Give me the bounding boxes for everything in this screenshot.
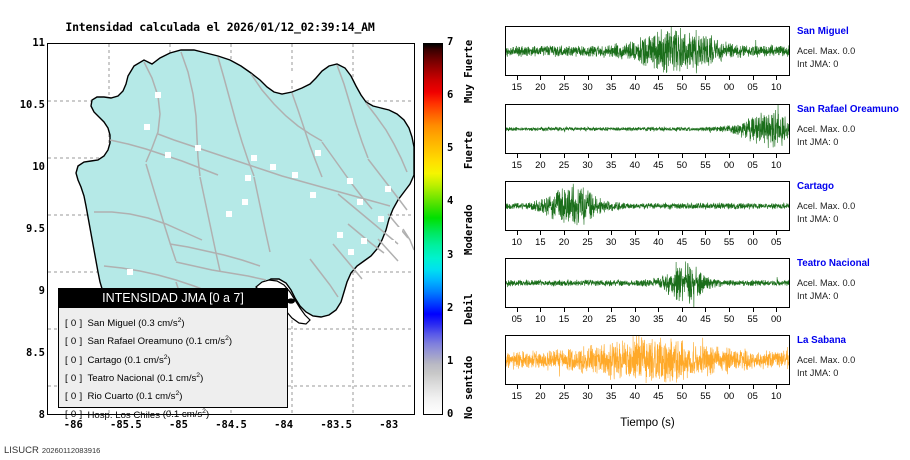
seismograph-info: San Rafael OreamunoAcel. Max. 0.0Int JMA…	[797, 104, 910, 147]
axis-tick-mark	[540, 154, 541, 158]
axis-tick-label: 55	[693, 390, 717, 401]
axis-tick-label: 45	[670, 236, 694, 247]
axis-tick-mark	[776, 385, 777, 389]
axis-tick-label: 00	[717, 81, 741, 92]
legend-accel-value: (0.1 cm/s	[133, 391, 175, 402]
axis-tick-mark	[658, 308, 659, 312]
axis-tick-mark	[658, 154, 659, 158]
axis-tick-mark	[682, 231, 683, 235]
axis-tick-mark	[611, 154, 612, 158]
map-y-tick: 11	[3, 37, 45, 49]
colorbar-gradient	[423, 43, 443, 415]
axis-tick-label: 30	[576, 390, 600, 401]
colorbar-tick: 0	[447, 408, 453, 420]
axis-tick-mark	[588, 154, 589, 158]
legend-intensity-value: [ 0 ]	[65, 410, 83, 421]
axis-tick-mark	[682, 385, 683, 389]
legend-title: INTENSIDAD JMA [0 a 7]	[59, 289, 287, 308]
seismograph-info: San MiguelAcel. Max. 0.0Int JMA: 0	[797, 26, 910, 69]
axis-tick-mark	[611, 76, 612, 80]
axis-tick-label: 25	[552, 390, 576, 401]
colorbar-tick: 5	[447, 142, 453, 154]
axis-tick-label: 10	[528, 313, 552, 324]
footer-timestamp: 20260112083916	[42, 446, 101, 455]
axis-tick-label: 45	[646, 390, 670, 401]
axis-tick-mark	[753, 385, 754, 389]
axis-tick-label: 00	[717, 390, 741, 401]
legend-station-name: San Rafael Oreamuno	[88, 336, 183, 347]
island-marker	[287, 298, 295, 303]
axis-tick-label: 30	[576, 81, 600, 92]
colorbar-category: Moderado	[463, 205, 475, 256]
axis-tick-mark	[611, 231, 612, 235]
axis-tick-label: 25	[599, 313, 623, 324]
colorbar-tick: 7	[447, 36, 453, 48]
legend-intensity-value: [ 0 ]	[65, 391, 83, 402]
seismograph-trace-plot[interactable]	[505, 258, 790, 308]
axis-tick-label: 25	[552, 81, 576, 92]
axis-tick-label: 55	[693, 159, 717, 170]
colorbar-tick: 2	[447, 302, 453, 314]
axis-tick-mark	[705, 154, 706, 158]
axis-tick-mark	[540, 231, 541, 235]
footer: LISUCR20260112083916	[4, 438, 100, 457]
axis-tick-mark	[705, 231, 706, 235]
axis-tick-label: 05	[764, 236, 788, 247]
seismograph-trace-plot[interactable]	[505, 335, 790, 385]
axis-tick-label: 20	[552, 236, 576, 247]
seismograph-panel[interactable]: 152025303540455055000510	[505, 26, 790, 96]
axis-tick-label: 35	[599, 390, 623, 401]
axis-tick-label: 50	[670, 159, 694, 170]
page-title: Intensidad calculada el 2026/01/12_02:39…	[0, 20, 440, 34]
legend-item[interactable]: [ 0 ]San Miguel (0.3 cm/s2)	[65, 313, 287, 331]
colorbar-category: Muy Fuerte	[463, 39, 475, 102]
waveform-path	[506, 27, 789, 73]
legend-accel-close: )	[229, 336, 232, 347]
jma-colorbar: 76543210Muy FuerteFuerteModeradoDebilNo …	[423, 43, 493, 415]
station-max-acceleration: Acel. Max. 0.0	[797, 124, 910, 134]
seismograph-trace-plot[interactable]	[505, 26, 790, 76]
legend-station-name: Teatro Nacional	[88, 373, 155, 384]
axis-tick-mark	[776, 308, 777, 312]
station-name-label[interactable]: San Rafael Oreamuno	[797, 104, 910, 115]
waveform-svg	[506, 105, 789, 153]
axis-tick-label: 50	[693, 236, 717, 247]
axis-tick-mark	[611, 385, 612, 389]
station-jma-intensity: Int JMA: 0	[797, 368, 910, 378]
axis-tick-mark	[564, 76, 565, 80]
seismograph-panel[interactable]: 152025303540455055000510	[505, 104, 790, 174]
station-max-acceleration: Acel. Max. 0.0	[797, 355, 910, 365]
legend-station-name: Cartago	[88, 355, 122, 366]
axis-tick-mark	[635, 385, 636, 389]
axis-tick-label: 05	[741, 159, 765, 170]
waveform-svg	[506, 336, 789, 384]
legend-accel-value: (0.1 cm/s	[154, 373, 196, 384]
axis-tick-mark	[517, 308, 518, 312]
axis-tick-mark	[635, 154, 636, 158]
axis-tick-mark	[705, 308, 706, 312]
legend-intensity-value: [ 0 ]	[65, 373, 83, 384]
axis-tick-label: 15	[505, 390, 529, 401]
axis-tick-label: 50	[670, 81, 694, 92]
axis-tick-mark	[682, 76, 683, 80]
map-y-axis: 1110.5109.598.58	[0, 0, 45, 460]
waveform-svg	[506, 182, 789, 230]
axis-tick-label: 50	[670, 390, 694, 401]
legend-item[interactable]: [ 0 ]San Rafael Oreamuno (0.1 cm/s2)	[65, 331, 287, 349]
axis-tick-mark	[658, 231, 659, 235]
axis-tick-mark	[658, 76, 659, 80]
axis-tick-mark	[635, 308, 636, 312]
seismograph-x-axis: 152025303540455055000510	[505, 385, 790, 405]
axis-tick-label: 35	[646, 313, 670, 324]
seismograph-panel[interactable]: 152025303540455055000510	[505, 335, 790, 405]
axis-tick-mark	[705, 76, 706, 80]
axis-tick-label: 10	[764, 390, 788, 401]
axis-tick-label: 20	[528, 390, 552, 401]
axis-tick-label: 30	[599, 236, 623, 247]
footer-org: LISUCR	[4, 445, 39, 456]
legend-accel-value: (0.1 cm/s	[122, 355, 164, 366]
station-name-label[interactable]: La Sabana	[797, 335, 910, 346]
axis-tick-label: 20	[528, 159, 552, 170]
station-jma-intensity: Int JMA: 0	[797, 137, 910, 147]
station-jma-intensity: Int JMA: 0	[797, 291, 910, 301]
waveform-svg	[506, 27, 789, 75]
axis-tick-label: 40	[623, 390, 647, 401]
colorbar-tick: 3	[447, 249, 453, 261]
axis-tick-label: 55	[717, 236, 741, 247]
axis-tick-label: 15	[505, 81, 529, 92]
legend-accel-value: (0.1 cm/s	[183, 336, 225, 347]
axis-tick-mark	[588, 231, 589, 235]
waveform-path	[506, 105, 789, 148]
seismograph-panel[interactable]: 101520253035404550550005	[505, 181, 790, 251]
legend-accel-close: )	[168, 355, 171, 366]
axis-tick-mark	[729, 385, 730, 389]
station-name-label[interactable]: San Miguel	[797, 26, 910, 37]
map-x-tick: -83.5	[306, 419, 366, 431]
colorbar-category: Fuerte	[463, 131, 475, 169]
axis-tick-label: 40	[670, 313, 694, 324]
map-y-tick: 10	[3, 161, 45, 173]
axis-tick-mark	[564, 231, 565, 235]
axis-tick-label: 15	[552, 313, 576, 324]
legend-station-name: San Miguel	[88, 318, 136, 329]
seismograph-trace-plot[interactable]	[505, 104, 790, 154]
station-name-label[interactable]: Teatro Nacional	[797, 258, 910, 269]
legend-accel-close: )	[206, 410, 209, 421]
map-x-tick: -83	[359, 419, 419, 431]
legend-station-name: Hosp. Los Chiles	[88, 410, 161, 421]
axis-tick-mark	[753, 231, 754, 235]
legend-accel-value: (0.3 cm/s	[136, 318, 178, 329]
waveform-svg	[506, 259, 789, 307]
seismograph-x-axis-title: Tiempo (s)	[505, 417, 790, 429]
legend-accel-close: )	[200, 373, 203, 384]
colorbar-category: Debil	[463, 294, 475, 326]
axis-tick-mark	[776, 154, 777, 158]
axis-tick-mark	[753, 154, 754, 158]
seismograph-panel[interactable]: 051015202530354045505500	[505, 258, 790, 328]
axis-tick-label: 25	[552, 159, 576, 170]
axis-tick-label: 45	[646, 81, 670, 92]
axis-tick-label: 40	[646, 236, 670, 247]
axis-tick-mark	[776, 231, 777, 235]
intensity-legend[interactable]: INTENSIDAD JMA [0 a 7] [ 0 ]San Miguel (…	[58, 288, 288, 408]
legend-item[interactable]: [ 0 ]Hosp. Los Chiles (0.1 cm/s2)	[65, 404, 287, 422]
axis-tick-label: 30	[576, 159, 600, 170]
axis-tick-label: 30	[623, 313, 647, 324]
axis-tick-label: 05	[741, 390, 765, 401]
waveform-path	[506, 336, 789, 383]
axis-tick-mark	[635, 231, 636, 235]
axis-tick-label: 00	[717, 159, 741, 170]
axis-tick-mark	[658, 385, 659, 389]
axis-tick-mark	[611, 308, 612, 312]
axis-tick-mark	[776, 76, 777, 80]
legend-item[interactable]: [ 0 ]Teatro Nacional (0.1 cm/s2)	[65, 368, 287, 386]
axis-tick-label: 50	[717, 313, 741, 324]
legend-intensity-value: [ 0 ]	[65, 318, 83, 329]
axis-tick-mark	[540, 76, 541, 80]
axis-tick-label: 15	[505, 159, 529, 170]
axis-tick-mark	[588, 76, 589, 80]
legend-accel-value: (0.1 cm/s	[160, 410, 202, 421]
axis-tick-label: 40	[623, 81, 647, 92]
axis-tick-label: 15	[528, 236, 552, 247]
colorbar-tick: 6	[447, 89, 453, 101]
axis-tick-mark	[753, 76, 754, 80]
colorbar-tick: 1	[447, 355, 453, 367]
station-max-acceleration: Acel. Max. 0.0	[797, 278, 910, 288]
axis-tick-label: 20	[528, 81, 552, 92]
legend-intensity-value: [ 0 ]	[65, 336, 83, 347]
axis-tick-mark	[564, 154, 565, 158]
legend-accel-close: )	[179, 391, 182, 402]
station-name-label[interactable]: Cartago	[797, 181, 910, 192]
axis-tick-mark	[729, 231, 730, 235]
axis-tick-mark	[705, 385, 706, 389]
axis-tick-mark	[564, 308, 565, 312]
waveform-path	[506, 184, 789, 225]
axis-tick-label: 40	[623, 159, 647, 170]
axis-tick-mark	[517, 76, 518, 80]
map-y-tick: 8.5	[3, 347, 45, 359]
seismograph-info: Teatro NacionalAcel. Max. 0.0Int JMA: 0	[797, 258, 910, 301]
axis-tick-label: 35	[599, 159, 623, 170]
axis-tick-mark	[540, 385, 541, 389]
axis-tick-mark	[588, 308, 589, 312]
axis-tick-mark	[682, 154, 683, 158]
station-max-acceleration: Acel. Max. 0.0	[797, 201, 910, 211]
legend-station-name: Rio Cuarto	[88, 391, 134, 402]
axis-tick-label: 20	[576, 313, 600, 324]
legend-intensity-value: [ 0 ]	[65, 355, 83, 366]
axis-tick-mark	[588, 385, 589, 389]
map-y-tick: 10.5	[3, 99, 45, 111]
seismograph-x-axis: 051015202530354045505500	[505, 308, 790, 328]
axis-tick-label: 05	[741, 81, 765, 92]
axis-tick-mark	[635, 76, 636, 80]
axis-tick-mark	[753, 308, 754, 312]
axis-tick-mark	[729, 308, 730, 312]
axis-tick-label: 25	[576, 236, 600, 247]
seismograph-x-axis: 152025303540455055000510	[505, 154, 790, 174]
axis-tick-label: 10	[764, 159, 788, 170]
axis-tick-label: 55	[741, 313, 765, 324]
axis-tick-mark	[517, 231, 518, 235]
seismograph-x-axis: 101520253035404550550005	[505, 231, 790, 251]
station-max-acceleration: Acel. Max. 0.0	[797, 46, 910, 56]
legend-accel-close: )	[181, 318, 184, 329]
colorbar-tick: 4	[447, 195, 453, 207]
axis-tick-label: 05	[505, 313, 529, 324]
map-y-tick: 9	[3, 285, 45, 297]
axis-tick-mark	[517, 154, 518, 158]
legend-rows: [ 0 ]San Miguel (0.3 cm/s2)[ 0 ]San Rafa…	[59, 308, 287, 423]
waveform-path	[506, 262, 789, 307]
axis-tick-label: 45	[646, 159, 670, 170]
axis-tick-label: 00	[741, 236, 765, 247]
station-jma-intensity: Int JMA: 0	[797, 214, 910, 224]
axis-tick-mark	[540, 308, 541, 312]
seismograph-trace-plot[interactable]	[505, 181, 790, 231]
map-y-tick: 9.5	[3, 223, 45, 235]
seismograph-info: CartagoAcel. Max. 0.0Int JMA: 0	[797, 181, 910, 224]
axis-tick-mark	[564, 385, 565, 389]
legend-item[interactable]: [ 0 ]Cartago (0.1 cm/s2)	[65, 350, 287, 368]
seismograph-x-axis: 152025303540455055000510	[505, 76, 790, 96]
colorbar-category: No sentido	[463, 356, 475, 419]
axis-tick-mark	[729, 154, 730, 158]
axis-tick-label: 35	[599, 81, 623, 92]
axis-tick-label: 35	[623, 236, 647, 247]
axis-tick-mark	[517, 385, 518, 389]
axis-tick-label: 10	[505, 236, 529, 247]
axis-tick-mark	[729, 76, 730, 80]
seismograph-info: La SabanaAcel. Max. 0.0Int JMA: 0	[797, 335, 910, 378]
axis-tick-mark	[682, 308, 683, 312]
axis-tick-label: 45	[693, 313, 717, 324]
legend-item[interactable]: [ 0 ]Rio Cuarto (0.1 cm/s2)	[65, 386, 287, 404]
station-jma-intensity: Int JMA: 0	[797, 59, 910, 69]
axis-tick-label: 00	[764, 313, 788, 324]
axis-tick-label: 10	[764, 81, 788, 92]
axis-tick-label: 55	[693, 81, 717, 92]
